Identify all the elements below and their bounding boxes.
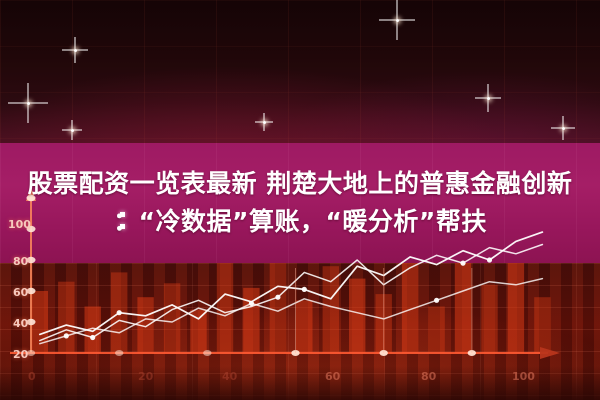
x-tick-label: 80 [421, 370, 436, 383]
thumbnail-canvas: 100 80 60 40 20 0 20 40 60 80 100 股票配资一览… [0, 0, 600, 400]
y-tick-label: 60 [13, 286, 28, 299]
background-grid [0, 0, 600, 143]
x-tick-label: 60 [325, 370, 340, 383]
legend-marker [120, 212, 125, 217]
x-tick-label: 20 [138, 370, 153, 383]
headline-text-block: 股票配资一览表最新 荆楚大地上的普惠金融创新 ：“冷数据”算账，“暖分析”帮扶 [0, 143, 600, 263]
headline-line-2: ：“冷数据”算账，“暖分析”帮扶 [113, 203, 487, 241]
x-tick-label: 100 [512, 370, 535, 383]
x-tick-label: 0 [28, 370, 36, 383]
y-tick-label: 40 [13, 317, 28, 330]
headline-line-1: 股票配资一览表最新 荆楚大地上的普惠金融创新 [28, 165, 573, 203]
y-tick-label: 20 [13, 348, 28, 361]
legend-marker [120, 224, 125, 229]
x-tick-label: 40 [222, 370, 237, 383]
